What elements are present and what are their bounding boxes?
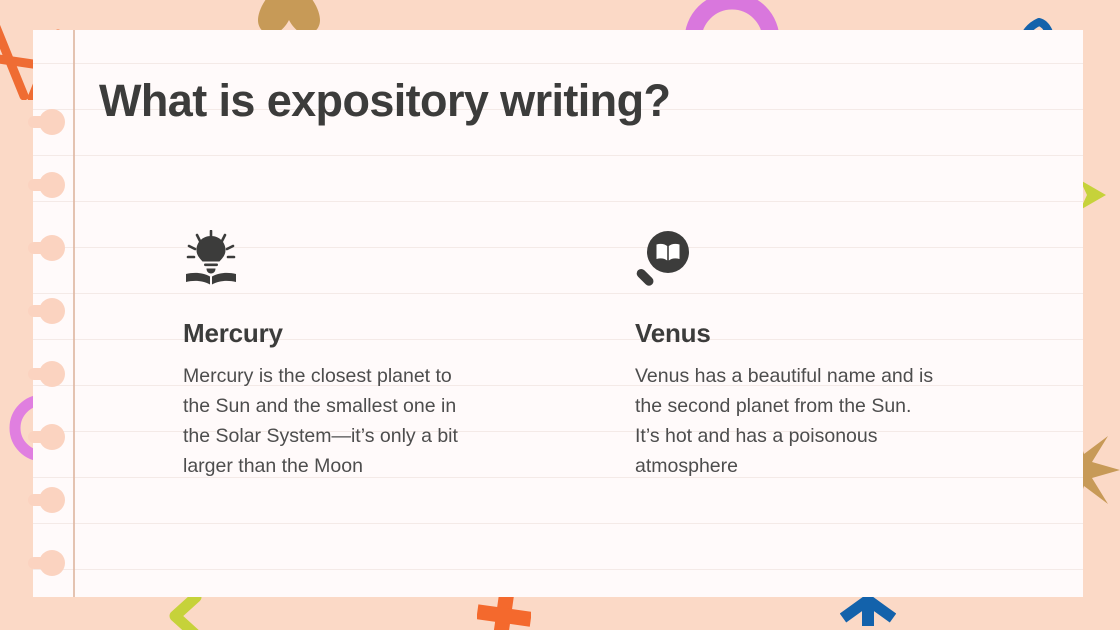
slide-canvas: What is expository writing? xyxy=(0,0,1120,630)
green-chevron-icon xyxy=(166,594,202,630)
column-venus: Venus Venus has a beautiful name and is … xyxy=(635,230,975,481)
blue-up-caret-icon xyxy=(840,596,896,626)
slide-content: What is expository writing? xyxy=(33,30,1083,597)
page-title: What is expository writing? xyxy=(99,75,670,127)
column-mercury: Mercury Mercury is the closest planet to… xyxy=(183,230,523,481)
column-heading: Mercury xyxy=(183,318,523,349)
column-heading: Venus xyxy=(635,318,975,349)
column-body: Mercury is the closest planet to the Sun… xyxy=(183,361,483,481)
lightbulb-book-icon xyxy=(183,230,239,286)
tan-heart-icon xyxy=(258,0,320,34)
orange-plus-icon xyxy=(477,592,531,630)
magnifier-book-icon xyxy=(635,230,691,286)
column-body: Venus has a beautiful name and is the se… xyxy=(635,361,935,481)
notebook-paper: What is expository writing? xyxy=(33,30,1083,597)
